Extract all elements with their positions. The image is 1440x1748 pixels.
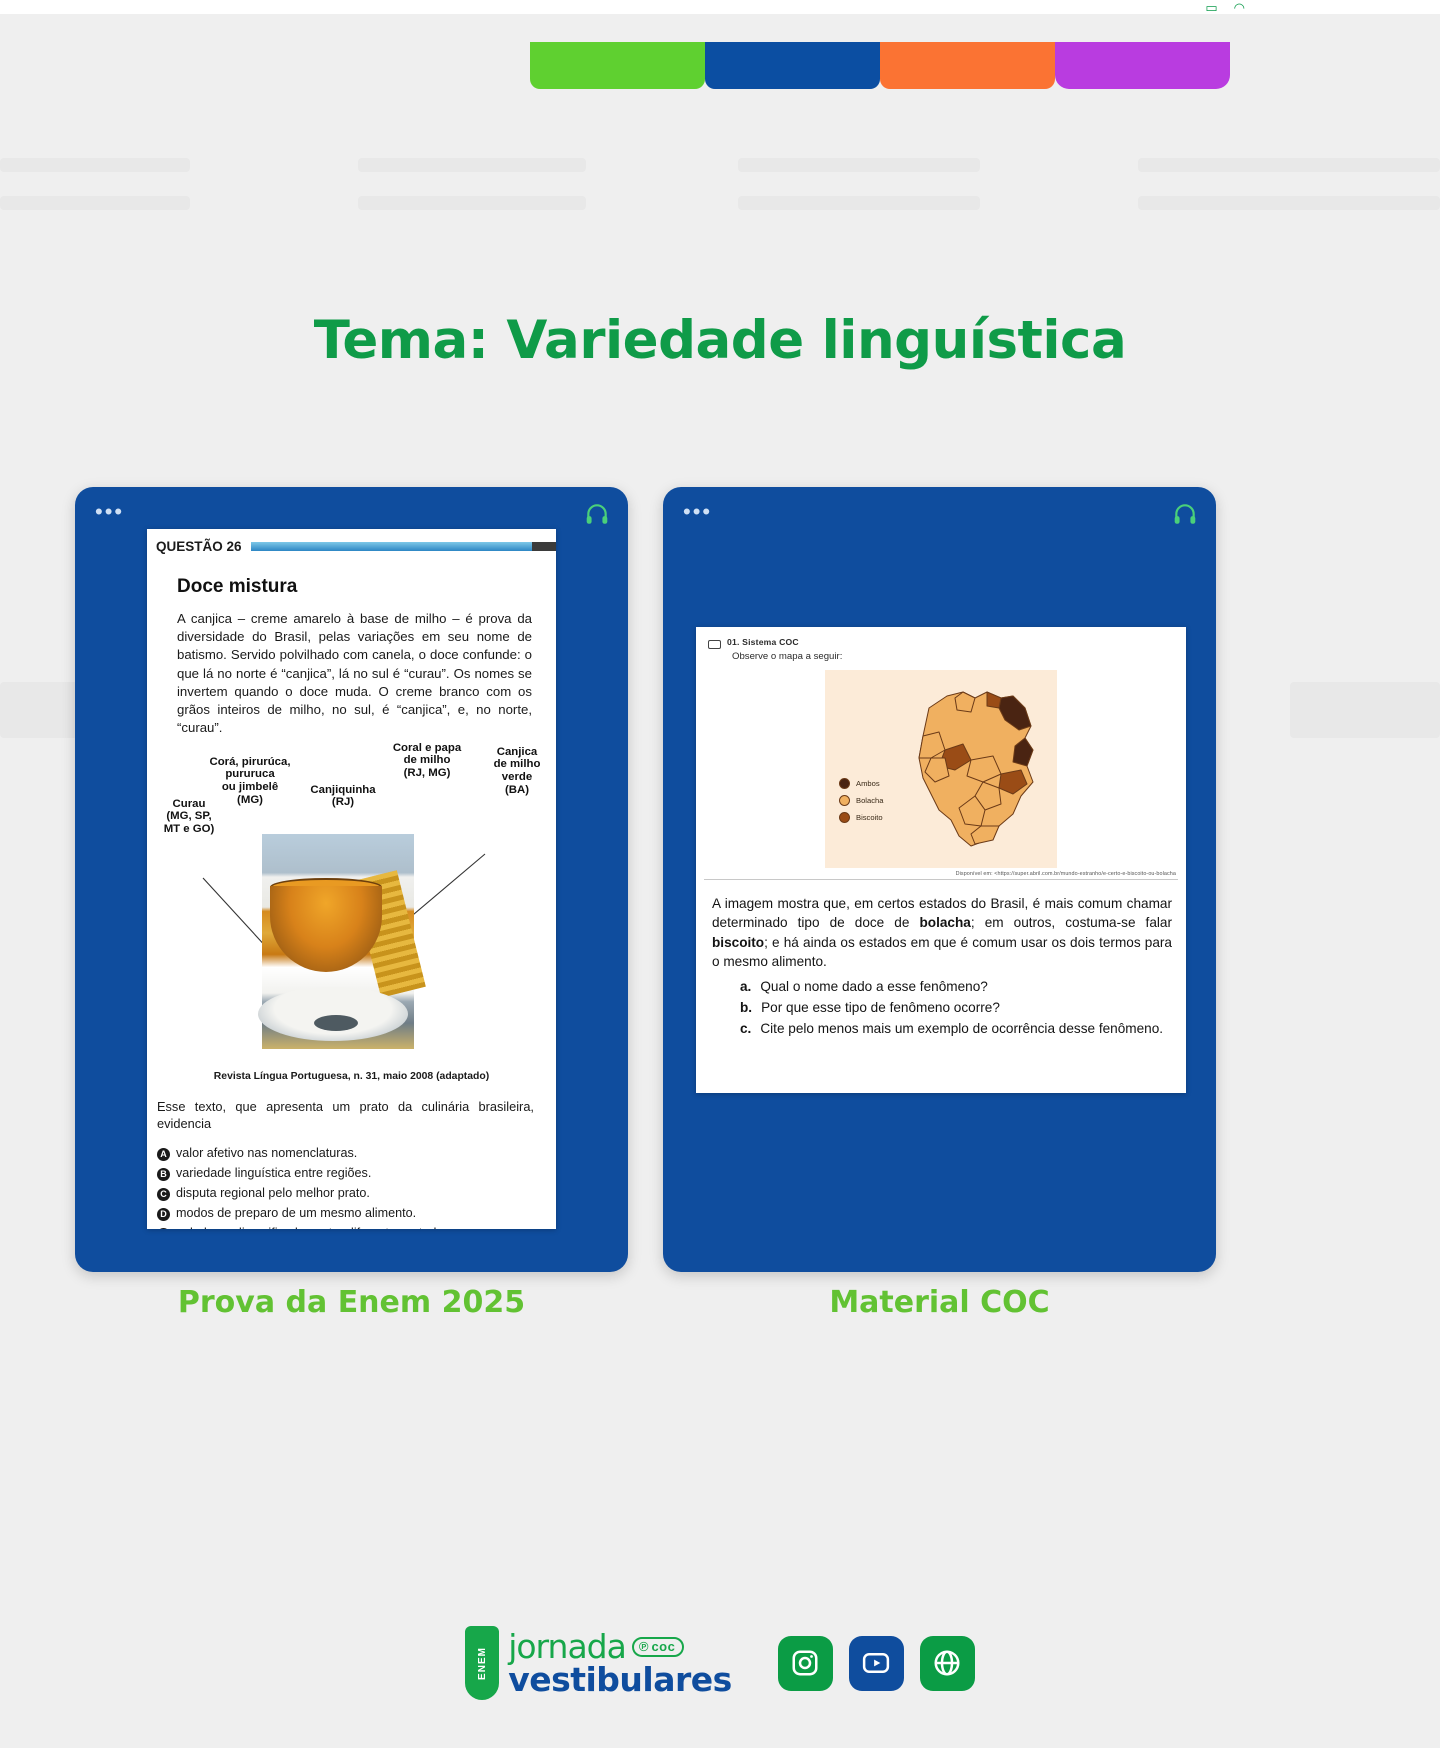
- canjica-photo-wrap: [147, 852, 556, 1067]
- headphones-icon: ◠: [1234, 1, 1245, 14]
- jornada-vestibulares-logo[interactable]: ENEM jornada ℗ coc vestibulares: [465, 1626, 732, 1700]
- caption-prova-enem: Prova da Enem 2025: [75, 1285, 628, 1320]
- plate: [258, 987, 408, 1041]
- item-label: b.: [740, 998, 752, 1017]
- battery-icon: ▭: [1205, 1, 1217, 14]
- brazil-map-shape: [901, 674, 1051, 864]
- logo-jornada-text: jornada: [508, 1630, 626, 1663]
- enem-question-sheet: QUESTÃO 26 Doce mistura A canjica – crem…: [147, 529, 556, 1229]
- body-term-bolacha: bolacha: [919, 915, 970, 930]
- bowl: [270, 886, 382, 972]
- answer-option-d[interactable]: D modos de preparo de um mesmo alimento.: [157, 1206, 556, 1221]
- legend-item-ambos: Ambos: [839, 778, 883, 789]
- body-part: ; e há ainda os estados em que é comum u…: [712, 935, 1172, 969]
- legend-label: Bolacha: [856, 796, 883, 805]
- map-credit: Disponível em: <https://super.abril.com.…: [696, 868, 1186, 877]
- callout-canjica-de-milho-verde: Canjica de milho verde (BA): [477, 746, 556, 797]
- coc-material-sheet: 01. Sistema COC Observe o mapa a seguir:: [696, 627, 1186, 1093]
- legend-dot: [839, 795, 850, 806]
- question-item-c: c. Cite pelo menos mais um exemplo de oc…: [740, 1019, 1172, 1038]
- option-letter: C: [157, 1188, 170, 1201]
- callout-coral-e-papa: Coral e papa de milho (RJ, MG): [375, 742, 479, 780]
- card-menu-dots[interactable]: •••: [95, 505, 124, 519]
- item-text: Cite pelo menos mais um exemplo de ocorr…: [760, 1019, 1163, 1038]
- option-text: paladares diversificados entre diferente…: [176, 1226, 453, 1229]
- question-body: A canjica – creme amarelo à base de milh…: [147, 610, 556, 738]
- item-label: a.: [740, 977, 751, 996]
- youtube-icon[interactable]: [849, 1636, 904, 1691]
- coc-logo-text: coc: [651, 1640, 675, 1653]
- legend-label: Biscoito: [856, 813, 883, 822]
- item-text: Por que esse tipo de fenômeno ocorre?: [761, 998, 1000, 1017]
- legend-dot: [839, 778, 850, 789]
- answer-option-c[interactable]: C disputa regional pelo melhor prato.: [157, 1186, 556, 1201]
- answer-option-a[interactable]: A valor afetivo nas nomenclaturas.: [157, 1146, 556, 1161]
- map-legend: Ambos Bolacha Biscoito: [839, 778, 883, 829]
- exercise-instruction: Observe o mapa a seguir:: [732, 651, 842, 662]
- headphones-icon[interactable]: [1172, 501, 1198, 527]
- question-item-a: a. Qual o nome dado a esse fenômeno?: [740, 977, 1172, 996]
- card-prova-enem[interactable]: ••• QUESTÃO 26 Doce mistura A canjica – …: [75, 487, 628, 1272]
- answer-option-b[interactable]: B variedade linguística entre regiões.: [157, 1166, 556, 1181]
- exercise-questions: a. Qual o nome dado a esse fenômeno? b. …: [696, 971, 1186, 1038]
- tab-green[interactable]: [530, 42, 705, 89]
- canjica-photo: [262, 834, 414, 1049]
- item-label: c.: [740, 1019, 751, 1038]
- exercise-label: 01. Sistema COC: [727, 637, 842, 647]
- book-icon: [708, 640, 721, 649]
- option-text: modos de preparo de um mesmo alimento.: [176, 1206, 416, 1220]
- placeholder-bar: [738, 158, 980, 172]
- card-menu-dots[interactable]: •••: [683, 505, 712, 519]
- placeholder-bar: [0, 682, 84, 738]
- option-letter: E: [157, 1228, 170, 1229]
- spoon: [314, 1015, 358, 1031]
- option-text: disputa regional pelo melhor prato.: [176, 1186, 370, 1200]
- enem-logo-badge: ENEM: [465, 1626, 499, 1700]
- placeholder-bar: [1138, 196, 1440, 210]
- header-rule: [251, 542, 532, 551]
- placeholder-bar: [738, 196, 980, 210]
- color-tab-strip[interactable]: [530, 42, 1230, 89]
- instagram-icon[interactable]: [778, 1636, 833, 1691]
- question-title: Doce mistura: [147, 554, 556, 610]
- question-number: QUESTÃO 26: [156, 539, 242, 554]
- body-term-biscoito: biscoito: [712, 935, 764, 950]
- legend-item-biscoito: Biscoito: [839, 812, 883, 823]
- placeholder-bar: [0, 196, 190, 210]
- answer-option-e[interactable]: E paladares diversificados entre diferen…: [157, 1226, 556, 1229]
- headphones-icon[interactable]: [584, 501, 610, 527]
- body-part: ; em outros, costuma-se falar: [971, 915, 1172, 930]
- legend-dot: [839, 812, 850, 823]
- page-title: Tema: Variedade linguística: [0, 310, 1440, 371]
- footer: ENEM jornada ℗ coc vestibulares: [0, 1626, 1440, 1700]
- tab-blue[interactable]: [705, 42, 880, 89]
- option-text: variedade linguística entre regiões.: [176, 1166, 371, 1180]
- callout-curau: Curau (MG, SP, MT e GO): [149, 798, 229, 836]
- website-icon[interactable]: [920, 1636, 975, 1691]
- legend-label: Ambos: [856, 779, 880, 788]
- item-text: Qual o nome dado a esse fenômeno?: [760, 977, 987, 996]
- tab-purple[interactable]: [1055, 42, 1230, 89]
- enem-logo-text: ENEM: [477, 1647, 488, 1680]
- placeholder-bar: [1290, 682, 1440, 738]
- placeholder-bar: [0, 158, 190, 172]
- logo-vestibulares-text: vestibulares: [508, 1663, 732, 1696]
- legend-item-bolacha: Bolacha: [839, 795, 883, 806]
- option-letter: D: [157, 1208, 170, 1221]
- brazil-map-figure: Ambos Bolacha Biscoito: [825, 670, 1057, 868]
- callout-canjiquinha: Canjiquinha (RJ): [295, 784, 391, 810]
- question-prompt: Esse texto, que apresenta um prato da cu…: [147, 1082, 556, 1133]
- option-letter: A: [157, 1148, 170, 1161]
- placeholder-bar: [358, 196, 586, 210]
- social-links: [778, 1636, 975, 1691]
- card-material-coc[interactable]: ••• 01. Sistema COC Observe o mapa a seg…: [663, 487, 1216, 1272]
- header-cap: [532, 542, 556, 551]
- question-source: Revista Língua Portuguesa, n. 31, maio 2…: [147, 1067, 556, 1082]
- exercise-body: A imagem mostra que, em certos estados d…: [696, 880, 1186, 971]
- exercise-header: 01. Sistema COC Observe o mapa a seguir:: [696, 627, 1186, 662]
- tab-orange[interactable]: [880, 42, 1055, 89]
- option-text: valor afetivo nas nomenclaturas.: [176, 1146, 357, 1160]
- status-icons: ▭ ◠: [1205, 0, 1245, 14]
- placeholder-bar: [1138, 158, 1440, 172]
- swirl-icon: ℗: [639, 1640, 649, 1653]
- question-header: QUESTÃO 26: [147, 529, 556, 554]
- placeholder-bar: [358, 158, 586, 172]
- option-letter: B: [157, 1168, 170, 1181]
- caption-material-coc: Material COC: [663, 1285, 1216, 1320]
- coc-logo-pill: ℗ coc: [632, 1637, 685, 1657]
- answer-options: A valor afetivo nas nomenclaturas. B var…: [147, 1132, 556, 1229]
- question-item-b: b. Por que esse tipo de fenômeno ocorre?: [740, 998, 1172, 1017]
